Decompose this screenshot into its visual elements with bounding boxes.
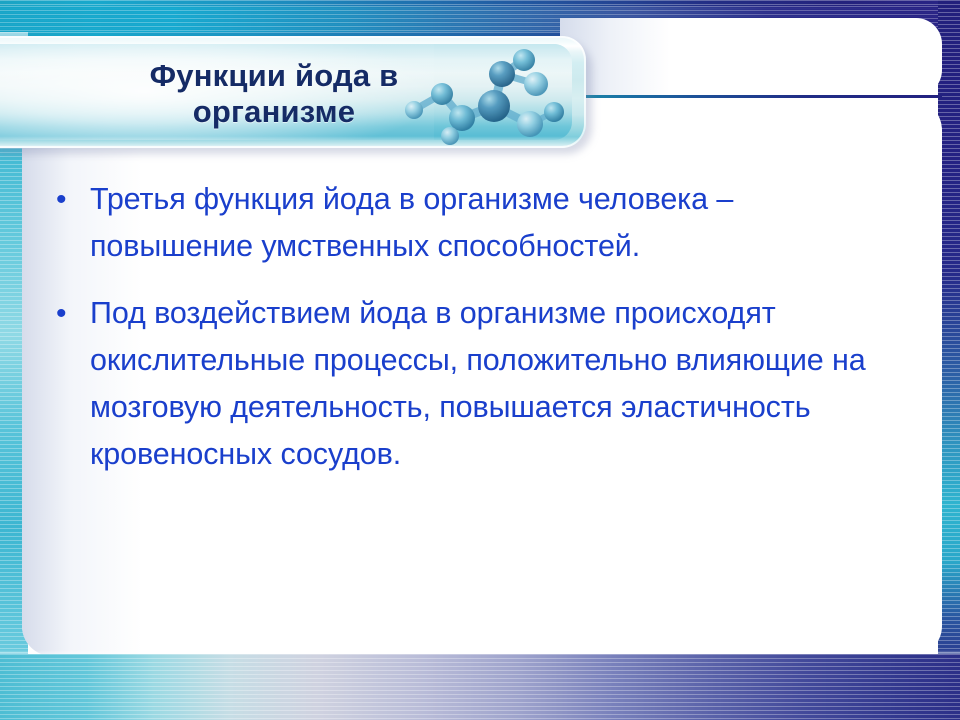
title-panel: Функции йода в организме <box>0 36 586 148</box>
bullet-marker-icon: • <box>52 176 90 223</box>
list-item: • Под воздействием йода в организме прои… <box>52 290 882 478</box>
bullet-marker-icon: • <box>52 290 90 337</box>
bottom-gradient-band <box>0 654 960 720</box>
bullet-text: Третья функция йода в организме человека… <box>90 176 882 270</box>
list-item: • Третья функция йода в организме челове… <box>52 176 882 270</box>
upper-right-panel <box>560 18 942 96</box>
slide-title: Функции йода в организме <box>24 58 524 130</box>
bullet-list: • Третья функция йода в организме челове… <box>52 176 882 498</box>
bullet-text: Под воздействием йода в организме происх… <box>90 290 882 478</box>
title-divider-line <box>576 95 942 98</box>
slide: Функции йода в организме • Третья функци… <box>0 0 960 720</box>
